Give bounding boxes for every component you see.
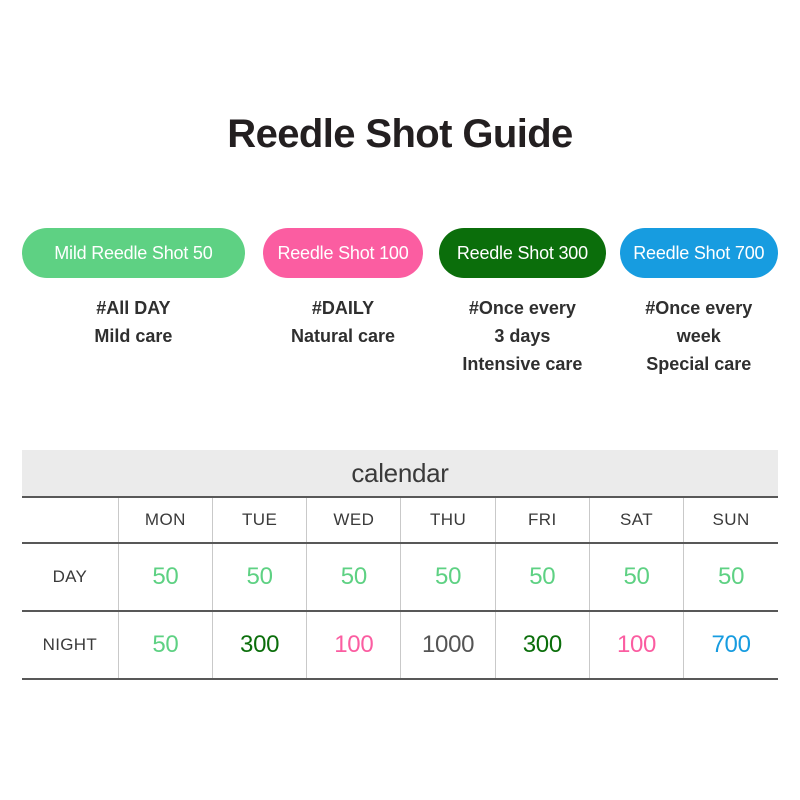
product-pill-row: Mild Reedle Shot 50 Reedle Shot 100 Reed… [22,228,778,280]
calendar-section: calendar MON TUE WED THU FRI SAT SUN [22,450,778,680]
calendar-table: MON TUE WED THU FRI SAT SUN DAY 50 50 50… [22,496,778,680]
product-pill-mild-reedle-shot-50[interactable]: Mild Reedle Shot 50 [22,228,245,278]
cell-night-fri: 300 [495,611,589,679]
product-column-4: Reedle Shot 700 [620,228,778,278]
product-caption-2: #DAILY Natural care [263,294,423,350]
caption-line: #Once every [620,294,778,322]
day-header-tue: TUE [212,497,306,543]
product-caption-3: #Once every 3 days Intensive care [439,294,605,378]
product-caption-row: #All DAY Mild care #DAILY Natural care #… [22,294,778,378]
product-pill-reedle-shot-100[interactable]: Reedle Shot 100 [263,228,423,278]
cell-day-sat: 50 [589,543,683,611]
calendar-row-day: DAY 50 50 50 50 50 50 50 [22,543,778,611]
caption-line: #DAILY [263,294,423,322]
product-caption-1: #All DAY Mild care [22,294,245,350]
cell-night-tue: 300 [212,611,306,679]
row-label-day: DAY [22,543,118,611]
caption-line: #All DAY [22,294,245,322]
day-header-mon: MON [118,497,212,543]
calendar-corner-cell [22,497,118,543]
product-column-1: Mild Reedle Shot 50 [22,228,245,278]
cell-night-wed: 100 [307,611,401,679]
product-caption-4: #Once every week Special care [620,294,778,378]
day-header-thu: THU [401,497,495,543]
cell-day-wed: 50 [307,543,401,611]
calendar-header-title: calendar [22,450,778,496]
day-header-wed: WED [307,497,401,543]
cell-day-thu: 50 [401,543,495,611]
product-pill-reedle-shot-300[interactable]: Reedle Shot 300 [439,228,605,278]
row-label-night: NIGHT [22,611,118,679]
cell-night-mon: 50 [118,611,212,679]
page-title: Reedle Shot Guide [0,112,800,157]
caption-line: Natural care [263,322,423,350]
day-header-fri: FRI [495,497,589,543]
product-column-2: Reedle Shot 100 [263,228,423,278]
cell-day-fri: 50 [495,543,589,611]
cell-day-mon: 50 [118,543,212,611]
product-column-3: Reedle Shot 300 [439,228,605,278]
caption-line: Mild care [22,322,245,350]
caption-line: week [620,322,778,350]
caption-line: Intensive care [439,350,605,378]
cell-day-tue: 50 [212,543,306,611]
cell-night-sun: 700 [684,611,778,679]
day-header-sat: SAT [589,497,683,543]
day-header-sun: SUN [684,497,778,543]
caption-line: #Once every [439,294,605,322]
calendar-day-header-row: MON TUE WED THU FRI SAT SUN [22,497,778,543]
cell-night-thu: 1000 [401,611,495,679]
calendar-row-night: NIGHT 50 300 100 1000 300 100 700 [22,611,778,679]
product-pill-reedle-shot-700[interactable]: Reedle Shot 700 [620,228,778,278]
cell-night-sat: 100 [589,611,683,679]
caption-line: Special care [620,350,778,378]
caption-line: 3 days [439,322,605,350]
cell-day-sun: 50 [684,543,778,611]
guide-page: Reedle Shot Guide Mild Reedle Shot 50 Re… [0,0,800,800]
